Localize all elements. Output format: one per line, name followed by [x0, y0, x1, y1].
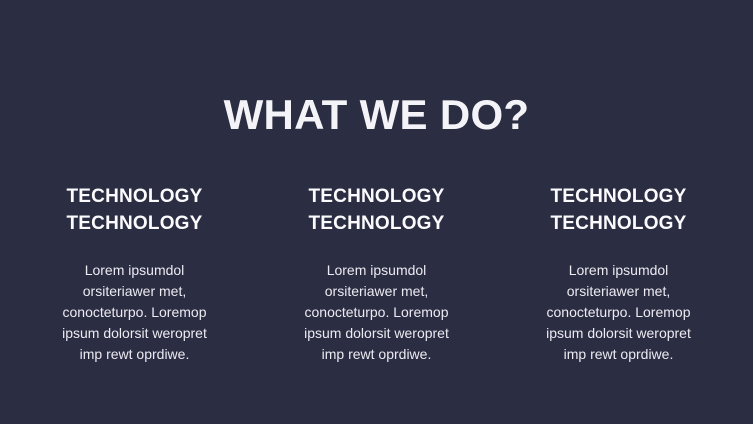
column-body-2: Lorem ipsumdol orsiteriawer met, conocte… — [272, 260, 482, 365]
column-heading-line: TECHNOLOGY — [66, 183, 202, 210]
column-body-line: ipsum dolorsit weropret — [272, 323, 482, 344]
column-body-line: Lorem ipsumdol — [514, 260, 724, 281]
column-heading-line: TECHNOLOGY — [308, 183, 444, 210]
column-heading-2: TECHNOLOGY TECHNOLOGY — [308, 183, 444, 237]
column-body-3: Lorem ipsumdol orsiteriawer met, conocte… — [514, 260, 724, 365]
column-heading-line: TECHNOLOGY — [308, 210, 444, 237]
column-body-1: Lorem ipsumdol orsiteriawer met, conocte… — [30, 260, 240, 365]
column-heading-line: TECHNOLOGY — [550, 210, 686, 237]
column-body-line: ipsum dolorsit weropret — [514, 323, 724, 344]
column-body-line: imp rewt oprdiwe. — [514, 344, 724, 365]
column-body-line: conocteturpo. Loremop — [514, 302, 724, 323]
column-heading-line: TECHNOLOGY — [66, 210, 202, 237]
title-container: WHAT WE DO? — [0, 92, 753, 138]
column-body-line: orsiteriawer met, — [30, 281, 240, 302]
column-heading-3: TECHNOLOGY TECHNOLOGY — [550, 183, 686, 237]
column-body-line: Lorem ipsumdol — [272, 260, 482, 281]
feature-column-2: TECHNOLOGY TECHNOLOGY Lorem ipsumdol ors… — [264, 183, 489, 365]
column-body-line: ipsum dolorsit weropret — [30, 323, 240, 344]
feature-columns: TECHNOLOGY TECHNOLOGY Lorem ipsumdol ors… — [22, 183, 731, 365]
column-body-line: imp rewt oprdiwe. — [272, 344, 482, 365]
column-body-line: orsiteriawer met, — [514, 281, 724, 302]
column-body-line: conocteturpo. Loremop — [272, 302, 482, 323]
page-title: WHAT WE DO? — [224, 92, 530, 138]
column-body-line: Lorem ipsumdol — [30, 260, 240, 281]
column-heading-1: TECHNOLOGY TECHNOLOGY — [66, 183, 202, 237]
column-body-line: orsiteriawer met, — [272, 281, 482, 302]
slide-canvas: WHAT WE DO? TECHNOLOGY TECHNOLOGY Lorem … — [0, 0, 753, 424]
column-body-line: conocteturpo. Loremop — [30, 302, 240, 323]
column-heading-line: TECHNOLOGY — [550, 183, 686, 210]
feature-column-1: TECHNOLOGY TECHNOLOGY Lorem ipsumdol ors… — [22, 183, 247, 365]
feature-column-3: TECHNOLOGY TECHNOLOGY Lorem ipsumdol ors… — [506, 183, 731, 365]
column-body-line: imp rewt oprdiwe. — [30, 344, 240, 365]
